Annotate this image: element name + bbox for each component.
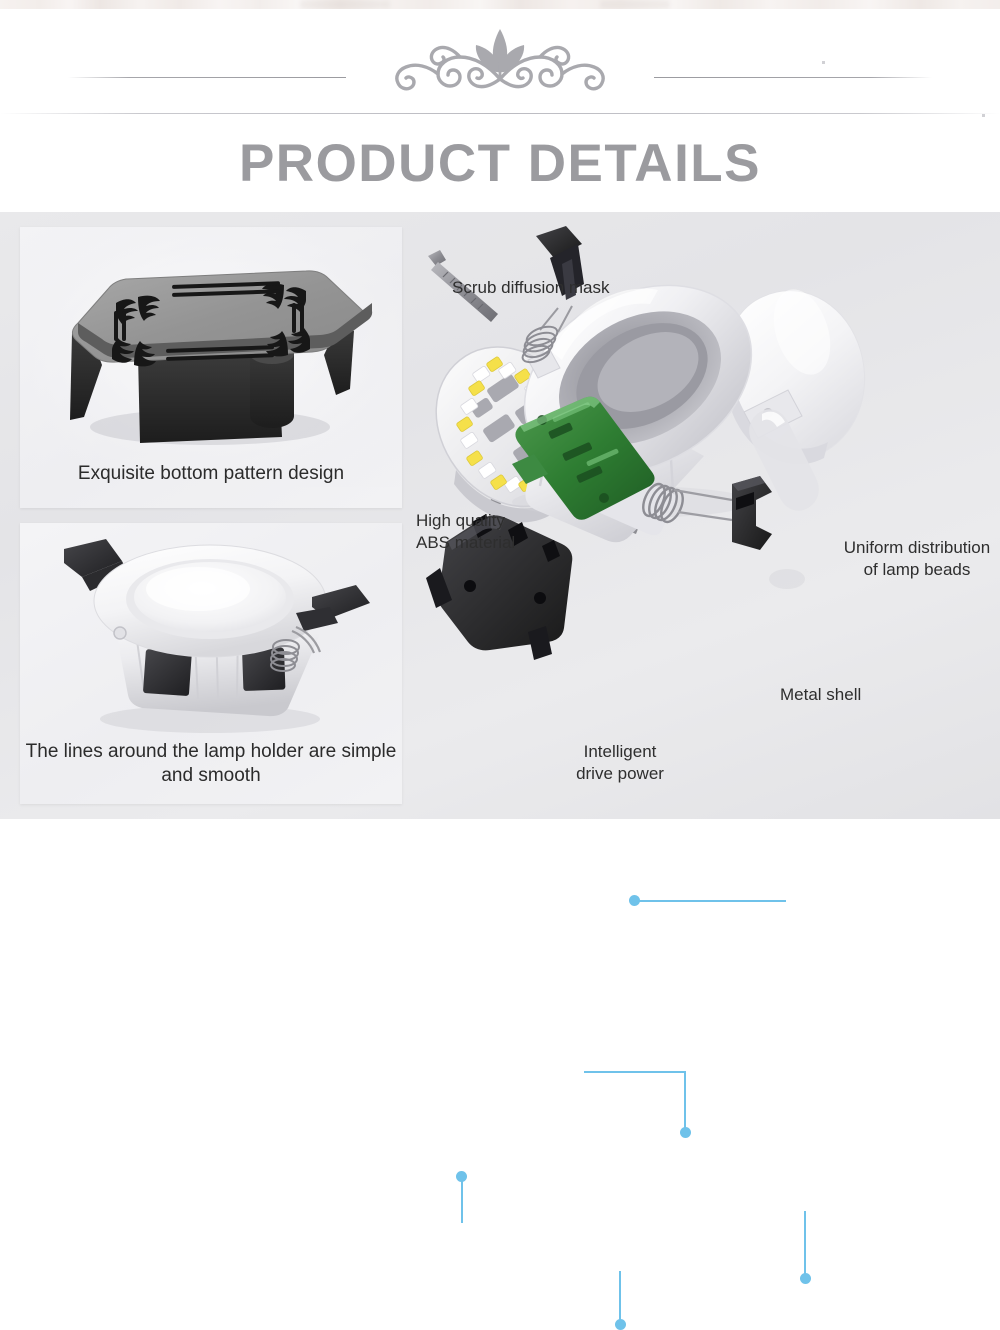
top-photo-strip [0, 0, 1000, 9]
header-divider-line [0, 113, 1000, 114]
divider-rule-left [68, 77, 346, 78]
artifact-mark-right [822, 61, 825, 64]
divider-rule-right [654, 77, 932, 78]
page-title: PRODUCT DETAILS [0, 133, 1000, 194]
exploded-led-downlight-diagram: Scrub diffusion mask High quality ABS ma… [402, 212, 1000, 819]
card-caption-lamp-holder: The lines around the lamp holder are sim… [20, 740, 402, 788]
content-area: Exquisite bottom pattern design [0, 212, 1000, 819]
callout-metal-shell: Metal shell [780, 684, 861, 706]
card-lamp-holder[interactable]: The lines around the lamp holder are sim… [20, 523, 402, 804]
callout-intelligent-drive-power: Intelligent drive power [550, 741, 690, 785]
card-bottom-pattern[interactable]: Exquisite bottom pattern design [20, 227, 402, 508]
artifact-mark-right2 [982, 114, 985, 117]
callout-uniform-lamp-beads: Uniform distribution of lamp beads [832, 537, 1000, 581]
page-header: PRODUCT DETAILS [0, 9, 1000, 212]
metal-bracket-clip [732, 476, 772, 550]
callout-scrub-diffusion-mask: Scrub diffusion mask [452, 277, 609, 299]
card-caption-bottom-pattern: Exquisite bottom pattern design [20, 462, 402, 486]
ornament-row [0, 17, 1000, 89]
callout-high-quality-abs: High quality ABS material [416, 510, 515, 554]
flourish-divider-icon [340, 25, 660, 97]
